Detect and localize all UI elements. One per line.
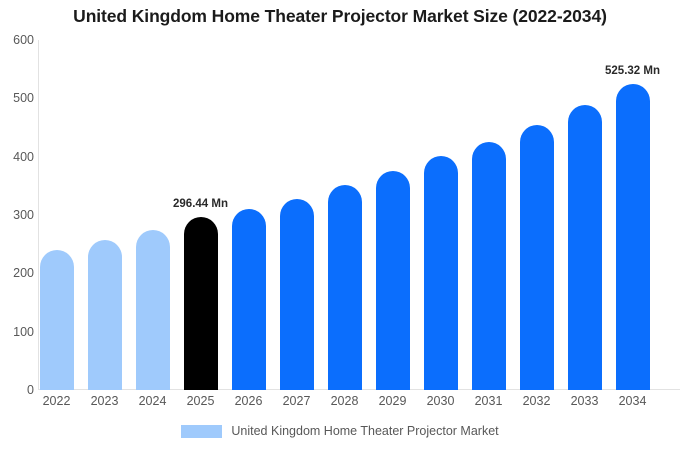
legend-label: United Kingdom Home Theater Projector Ma… <box>231 424 498 438</box>
bar-2030[interactable] <box>424 156 458 390</box>
y-axis-tick-label: 500 <box>0 91 34 105</box>
bar-2023[interactable] <box>88 240 122 390</box>
bar-value-label-2025: 296.44 Mn <box>173 198 228 210</box>
bar-2027[interactable] <box>280 199 314 390</box>
bar-2034[interactable] <box>616 84 650 390</box>
y-axis-tick-label: 300 <box>0 208 34 222</box>
bar-value-label-2034: 525.32 Mn <box>605 65 660 77</box>
y-axis-tick-label: 200 <box>0 266 34 280</box>
y-axis-line <box>38 40 39 390</box>
chart-container: United Kingdom Home Theater Projector Ma… <box>0 0 680 450</box>
bar-2033[interactable] <box>568 105 602 390</box>
chart-legend: United Kingdom Home Theater Projector Ma… <box>0 424 680 438</box>
y-axis-tick-label: 100 <box>0 325 34 339</box>
bar-2031[interactable] <box>472 142 506 390</box>
bar-2029[interactable] <box>376 171 410 390</box>
bar-2025[interactable] <box>184 217 218 390</box>
chart-title: United Kingdom Home Theater Projector Ma… <box>0 6 680 27</box>
bar-2032[interactable] <box>520 125 554 390</box>
x-axis-tick-label-2034: 2034 <box>603 394 663 408</box>
y-axis-tick-label: 600 <box>0 33 34 47</box>
y-axis-tick-label: 400 <box>0 150 34 164</box>
plot-area <box>38 40 680 390</box>
bar-2026[interactable] <box>232 209 266 390</box>
bar-2022[interactable] <box>40 250 74 390</box>
legend-swatch-icon <box>181 425 222 438</box>
bar-2024[interactable] <box>136 230 170 390</box>
bar-2028[interactable] <box>328 185 362 390</box>
